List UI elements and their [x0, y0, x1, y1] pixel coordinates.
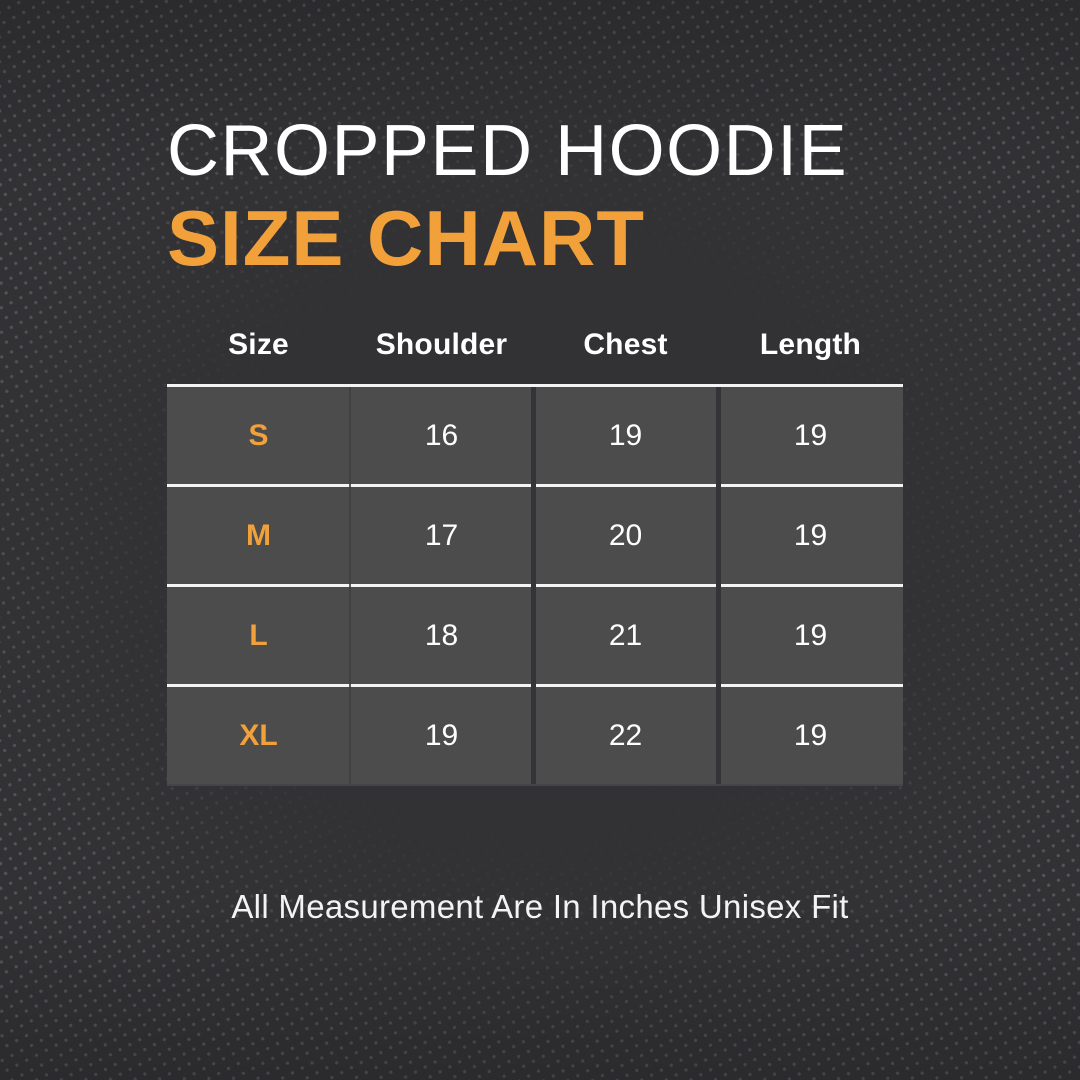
cell-length: 19: [718, 587, 903, 684]
cell-shoulder: 17: [350, 487, 533, 584]
cell-size: M: [167, 487, 350, 584]
title-line-size-chart: SIZE CHART: [167, 194, 927, 282]
cell-size: XL: [167, 687, 350, 784]
size-chart-table: Size Shoulder Chest Length S 16 19 19 M …: [167, 306, 903, 786]
cell-chest: 22: [533, 687, 718, 784]
measurement-note: All Measurement Are In Inches Unisex Fit: [0, 888, 1080, 926]
column-header-length: Length: [718, 306, 903, 384]
cell-length: 19: [718, 387, 903, 484]
table-row: L 18 21 19: [167, 584, 903, 684]
table-body: S 16 19 19 M 17 20 19 L 18 21 19: [167, 384, 903, 786]
cell-length: 19: [718, 487, 903, 584]
column-header-shoulder: Shoulder: [350, 306, 533, 384]
table-row: XL 19 22 19: [167, 684, 903, 784]
column-header-size: Size: [167, 306, 350, 384]
cell-shoulder: 16: [350, 387, 533, 484]
poster-content: CROPPED HOODIE SIZE CHART Size Shoulder …: [0, 0, 1080, 1080]
cell-chest: 20: [533, 487, 718, 584]
cell-shoulder: 18: [350, 587, 533, 684]
cell-chest: 21: [533, 587, 718, 684]
column-header-chest: Chest: [533, 306, 718, 384]
cell-size: L: [167, 587, 350, 684]
cell-chest: 19: [533, 387, 718, 484]
page-title: CROPPED HOODIE SIZE CHART: [167, 108, 927, 282]
table-header-row: Size Shoulder Chest Length: [167, 306, 903, 384]
cell-shoulder: 19: [350, 687, 533, 784]
table-row: M 17 20 19: [167, 484, 903, 584]
title-line-product: CROPPED HOODIE: [167, 108, 927, 194]
cell-length: 19: [718, 687, 903, 784]
size-chart-poster: CROPPED HOODIE SIZE CHART Size Shoulder …: [0, 0, 1080, 1080]
cell-size: S: [167, 387, 350, 484]
table-row: S 16 19 19: [167, 387, 903, 484]
